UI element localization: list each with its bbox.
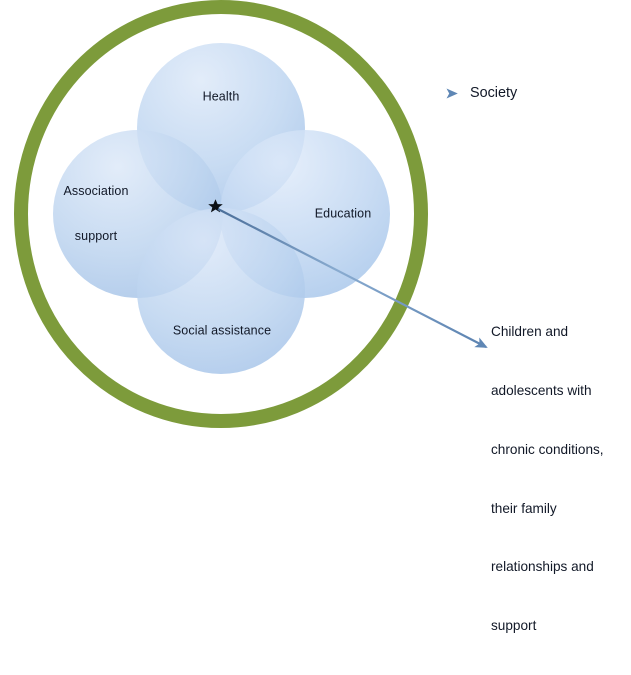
annotation-children-line-6: support bbox=[491, 616, 604, 636]
annotation-society: Society bbox=[470, 85, 517, 102]
annotation-children-line-4: their family bbox=[491, 499, 604, 519]
annotation-children-line-1: Children and bbox=[491, 322, 604, 342]
circle-social-assistance bbox=[137, 208, 305, 374]
venn-circles bbox=[53, 43, 390, 374]
annotation-children: Children and adolescents with chronic co… bbox=[491, 283, 604, 675]
diagram-canvas: Health Education Social assistance Assoc… bbox=[0, 0, 631, 429]
annotation-children-line-5: relationships and bbox=[491, 557, 604, 577]
annotation-children-line-2: adolescents with bbox=[491, 381, 604, 401]
annotation-children-line-3: chronic conditions, bbox=[491, 440, 604, 460]
